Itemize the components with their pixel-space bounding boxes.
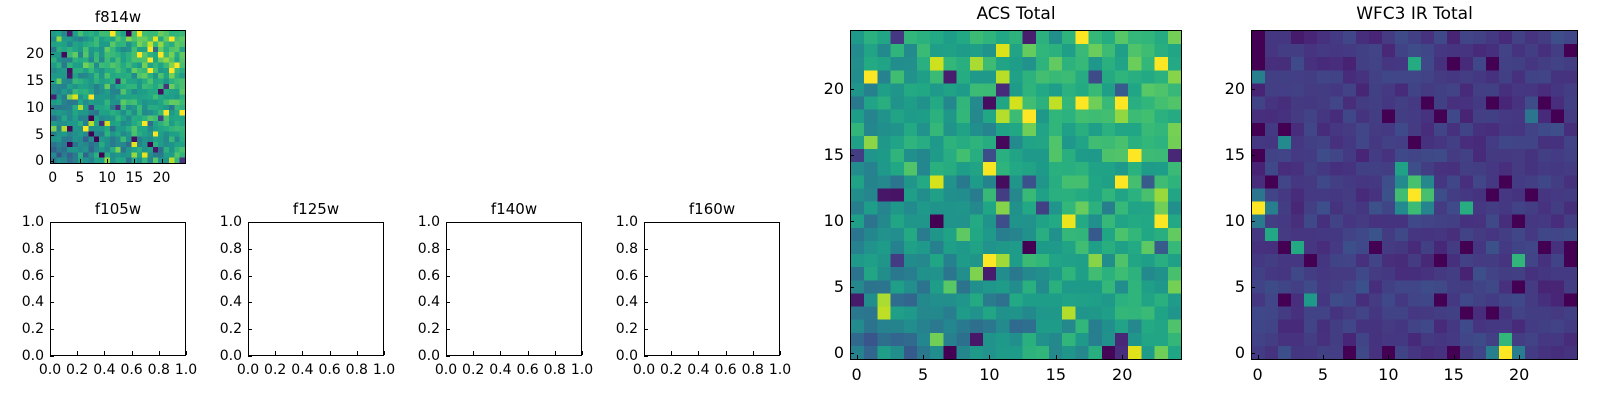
xtick-mark-wfc3_ir_total-2	[1388, 355, 1389, 359]
ytick-mark-wfc3_ir_total-1	[1251, 287, 1255, 288]
ytick-mark-wfc3_ir_total-3	[1251, 155, 1255, 156]
matplotlib-figure: f814w0510152005101520f105w0.00.20.40.60.…	[0, 0, 1600, 400]
xtick-label-wfc3_ir_total-1: 5	[1293, 367, 1353, 383]
ytick-label-wfc3_ir_total-3: 15	[1183, 147, 1245, 163]
ytick-label-wfc3_ir_total-2: 10	[1183, 213, 1245, 229]
heatmap-wfc3_ir_total	[1252, 31, 1577, 359]
xtick-label-wfc3_ir_total-2: 10	[1358, 367, 1418, 383]
ytick-mark-wfc3_ir_total-0	[1251, 353, 1255, 354]
panel-wfc3_ir_total: WFC3 IR Total0510152005101520	[0, 0, 1600, 400]
ytick-mark-wfc3_ir_total-4	[1251, 89, 1255, 90]
xtick-label-wfc3_ir_total-3: 15	[1424, 367, 1484, 383]
xtick-mark-wfc3_ir_total-4	[1519, 355, 1520, 359]
ytick-label-wfc3_ir_total-0: 0	[1183, 345, 1245, 361]
ytick-label-wfc3_ir_total-4: 20	[1183, 81, 1245, 97]
xtick-mark-wfc3_ir_total-1	[1323, 355, 1324, 359]
ytick-mark-wfc3_ir_total-2	[1251, 221, 1255, 222]
xtick-label-wfc3_ir_total-4: 20	[1489, 367, 1549, 383]
xtick-label-wfc3_ir_total-0: 0	[1228, 367, 1288, 383]
axes-wfc3_ir_total	[1251, 30, 1578, 360]
panel-title-wfc3_ir_total: WFC3 IR Total	[1251, 6, 1578, 23]
xtick-mark-wfc3_ir_total-3	[1454, 355, 1455, 359]
xtick-mark-wfc3_ir_total-0	[1258, 355, 1259, 359]
ytick-label-wfc3_ir_total-1: 5	[1183, 279, 1245, 295]
